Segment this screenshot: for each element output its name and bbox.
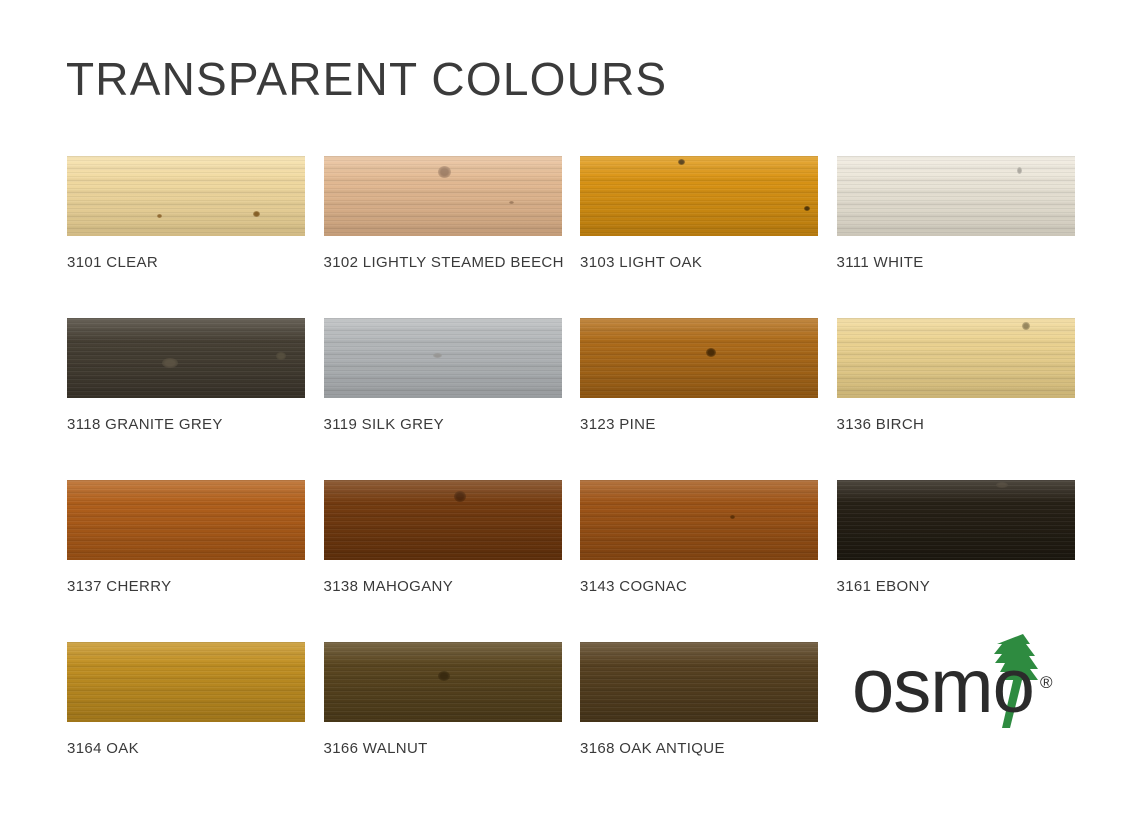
swatch-row: 3137 CHERRY3138 MAHOGANY3143 COGNAC3161 … xyxy=(67,480,1077,642)
wood-sheen xyxy=(324,156,562,236)
swatch-label-3161: 3161 EBONY xyxy=(837,578,931,595)
wood-sheen xyxy=(837,156,1075,236)
swatch-label-3136: 3136 BIRCH xyxy=(837,416,925,433)
swatch-chip-3103[interactable] xyxy=(580,156,818,236)
swatch-cell-3138[interactable]: 3138 MAHOGANY xyxy=(324,480,562,560)
svg-text:®: ® xyxy=(1040,673,1053,692)
wood-sheen xyxy=(580,318,818,398)
swatch-cell-3136[interactable]: 3136 BIRCH xyxy=(837,318,1075,398)
wood-sheen xyxy=(324,642,562,722)
wood-sheen xyxy=(837,318,1075,398)
wood-sheen xyxy=(324,480,562,560)
wood-sheen xyxy=(67,318,305,398)
swatch-label-3119: 3119 SILK GREY xyxy=(324,416,445,433)
page-title: TRANSPARENT COLOURS xyxy=(66,52,667,106)
swatch-label-3164: 3164 OAK xyxy=(67,740,139,757)
swatch-chip-3137[interactable] xyxy=(67,480,305,560)
swatch-chip-3136[interactable] xyxy=(837,318,1075,398)
wood-sheen xyxy=(837,480,1075,560)
swatch-chip-3161[interactable] xyxy=(837,480,1075,560)
swatch-chip-3164[interactable] xyxy=(67,642,305,722)
swatch-cell-3161[interactable]: 3161 EBONY xyxy=(837,480,1075,560)
swatch-cell-3119[interactable]: 3119 SILK GREY xyxy=(324,318,562,398)
wood-sheen xyxy=(67,642,305,722)
swatch-cell-3102[interactable]: 3102 LIGHTLY STEAMED BEECH xyxy=(324,156,562,236)
colour-chart-page: TRANSPARENT COLOURS 3101 CLEAR3102 LIGHT… xyxy=(0,0,1140,820)
swatch-label-3111: 3111 WHITE xyxy=(837,254,924,271)
wood-sheen xyxy=(580,642,818,722)
swatch-chip-3143[interactable] xyxy=(580,480,818,560)
swatch-chip-3111[interactable] xyxy=(837,156,1075,236)
swatch-chip-3102[interactable] xyxy=(324,156,562,236)
wood-sheen xyxy=(67,480,305,560)
swatch-cell-3168[interactable]: 3168 OAK ANTIQUE xyxy=(580,642,818,722)
swatch-cell-3143[interactable]: 3143 COGNAC xyxy=(580,480,818,560)
wood-sheen xyxy=(67,156,305,236)
swatch-cell-3123[interactable]: 3123 PINE xyxy=(580,318,818,398)
swatch-chip-3118[interactable] xyxy=(67,318,305,398)
swatch-chip-3119[interactable] xyxy=(324,318,562,398)
swatch-label-3143: 3143 COGNAC xyxy=(580,578,687,595)
swatch-label-3103: 3103 LIGHT OAK xyxy=(580,254,702,271)
swatch-label-3166: 3166 WALNUT xyxy=(324,740,428,757)
swatch-chip-3101[interactable] xyxy=(67,156,305,236)
swatch-cell-3164[interactable]: 3164 OAK xyxy=(67,642,305,722)
swatch-cell-3137[interactable]: 3137 CHERRY xyxy=(67,480,305,560)
swatch-label-3102: 3102 LIGHTLY STEAMED BEECH xyxy=(324,254,564,271)
swatch-label-3101: 3101 CLEAR xyxy=(67,254,158,271)
swatch-label-3137: 3137 CHERRY xyxy=(67,578,171,595)
wood-sheen xyxy=(580,480,818,560)
swatch-cell-3103[interactable]: 3103 LIGHT OAK xyxy=(580,156,818,236)
swatch-chip-3138[interactable] xyxy=(324,480,562,560)
swatch-label-3118: 3118 GRANITE GREY xyxy=(67,416,223,433)
swatch-label-3138: 3138 MAHOGANY xyxy=(324,578,454,595)
swatch-label-3123: 3123 PINE xyxy=(580,416,656,433)
wood-sheen xyxy=(580,156,818,236)
swatch-chip-3168[interactable] xyxy=(580,642,818,722)
svg-text:osmo: osmo xyxy=(852,644,1034,729)
swatch-cell-3118[interactable]: 3118 GRANITE GREY xyxy=(67,318,305,398)
swatch-chip-3123[interactable] xyxy=(580,318,818,398)
swatch-cell-3166[interactable]: 3166 WALNUT xyxy=(324,642,562,722)
swatch-row: 3101 CLEAR3102 LIGHTLY STEAMED BEECH3103… xyxy=(67,156,1077,318)
swatch-cell-3111[interactable]: 3111 WHITE xyxy=(837,156,1075,236)
swatch-cell-3101[interactable]: 3101 CLEAR xyxy=(67,156,305,236)
swatch-label-3168: 3168 OAK ANTIQUE xyxy=(580,740,725,757)
swatch-chip-3166[interactable] xyxy=(324,642,562,722)
swatch-row: 3118 GRANITE GREY3119 SILK GREY3123 PINE… xyxy=(67,318,1077,480)
wood-sheen xyxy=(324,318,562,398)
osmo-logo: osmo ® xyxy=(852,632,1074,730)
